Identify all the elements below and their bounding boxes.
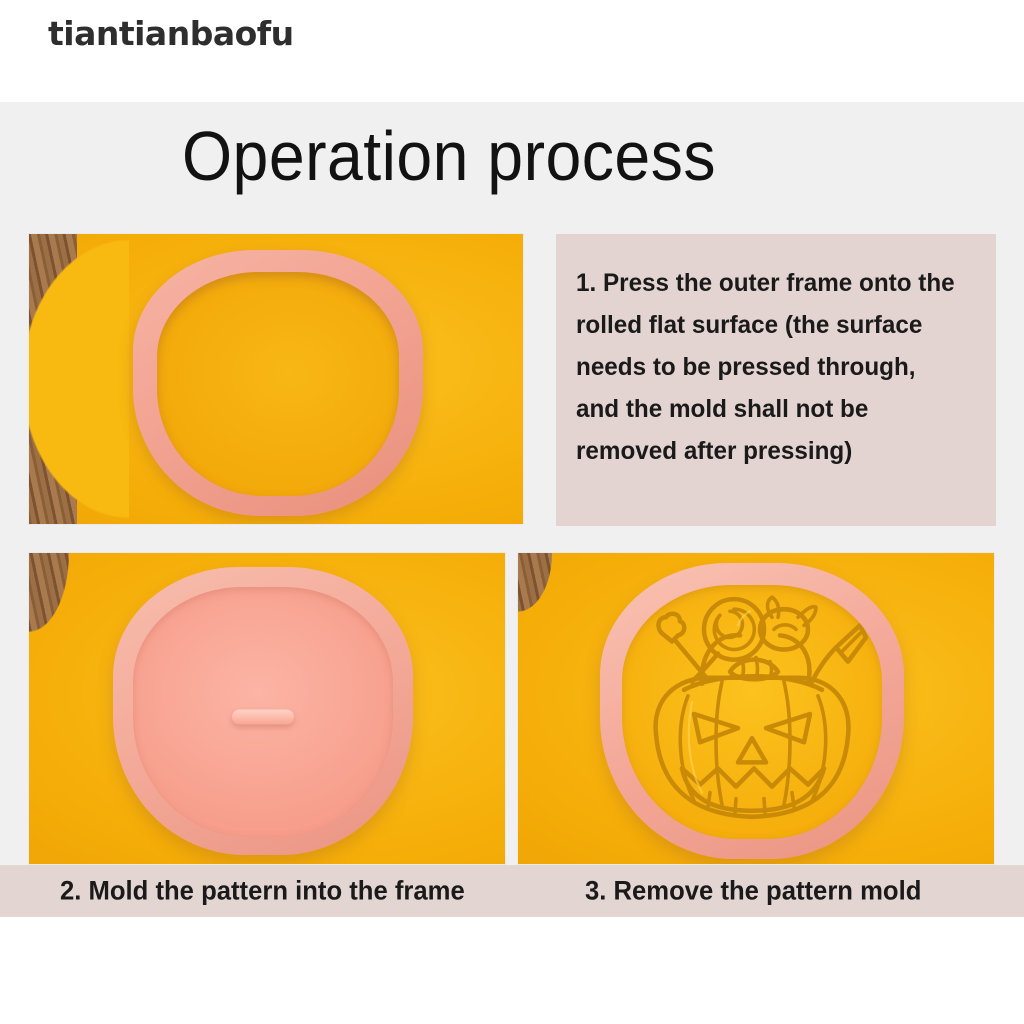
step-3-caption: 3. Remove the pattern mold [585, 876, 921, 907]
step-1-instruction-panel: 1. Press the outer frame onto the rolled… [556, 234, 996, 526]
embossed-dough: .ln { fill:none; stroke:#c98a07; stroke-… [622, 585, 882, 839]
outer-frame: .ln { fill:none; stroke:#c98a07; stroke-… [600, 563, 904, 859]
step-2-photo [28, 552, 506, 865]
wood-board [518, 553, 552, 631]
caption-band: 2. Mold the pattern into the frame 3. Re… [0, 865, 1024, 917]
watermark-label: tiantianbaofu [48, 14, 294, 53]
page-root: tiantianbaofu Operation process 1. Press… [0, 0, 1024, 1024]
step-1-instruction-text: 1. Press the outer frame onto the rolled… [576, 262, 962, 472]
outer-frame [113, 567, 413, 855]
pumpkin-pattern-icon: .ln { fill:none; stroke:#c98a07; stroke-… [622, 585, 882, 839]
step-3-photo: .ln { fill:none; stroke:#c98a07; stroke-… [517, 552, 995, 865]
cutter-frame-opening [157, 272, 399, 496]
step-1-photo [28, 233, 524, 525]
bottom-whitespace [0, 917, 1024, 1024]
dough-edge [28, 233, 129, 525]
wood-board [29, 553, 73, 671]
pattern-stamp-plate [133, 587, 393, 837]
page-title: Operation process [182, 116, 716, 196]
stamp-handle [232, 710, 294, 725]
content-card: Operation process 1. Press the outer fra… [0, 102, 1024, 865]
step-2-caption: 2. Mold the pattern into the frame [60, 876, 465, 907]
cutter-frame-ring [133, 250, 423, 516]
